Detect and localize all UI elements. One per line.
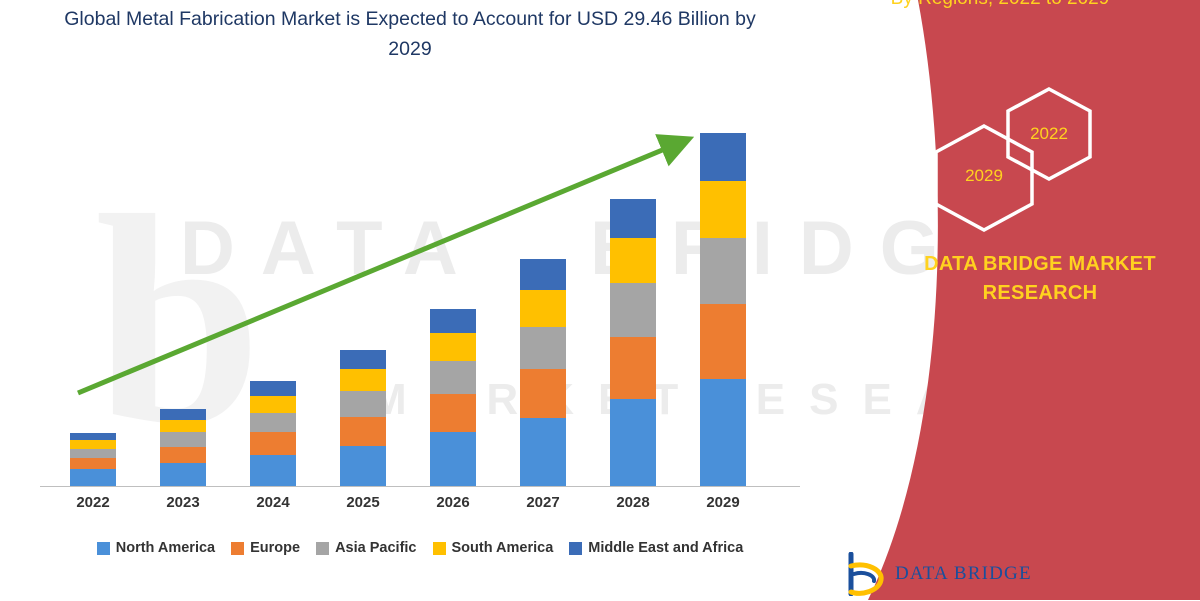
legend-swatch-icon — [231, 542, 244, 555]
x-axis-label: 2029 — [678, 494, 768, 511]
bar-segment — [340, 417, 386, 446]
chart-area: Global Metal Fabrication Market is Expec… — [0, 0, 830, 600]
bar-segment — [430, 361, 476, 394]
company-logo: DATA BRIDGE — [845, 552, 1032, 596]
bar-segment — [700, 379, 746, 486]
bar-segment — [340, 446, 386, 486]
chart-title: Global Metal Fabrication Market is Expec… — [60, 4, 760, 64]
x-axis-line — [40, 486, 800, 487]
bar-group — [250, 381, 296, 486]
bar-group — [430, 309, 476, 486]
bar-segment — [160, 432, 206, 446]
bar-segment — [520, 259, 566, 290]
x-axis-label: 2026 — [408, 494, 498, 511]
bar-segment — [520, 418, 566, 486]
bar-segment — [70, 433, 116, 440]
bar-segment — [160, 409, 206, 419]
bar-segment — [340, 350, 386, 369]
legend-swatch-icon — [433, 542, 446, 555]
bar-segment — [160, 447, 206, 464]
x-axis-label: 2027 — [498, 494, 588, 511]
bar-segment — [250, 396, 296, 413]
bar-segment — [700, 133, 746, 181]
bar-group — [610, 199, 656, 486]
bar-segment — [430, 432, 476, 486]
bar-segment — [520, 369, 566, 418]
bar-segment — [70, 469, 116, 486]
logo-b-icon — [845, 552, 887, 596]
brand-line-1: DATA BRIDGE MARKET — [880, 250, 1200, 279]
legend-item[interactable]: North America — [97, 540, 215, 556]
x-axis-label: 2025 — [318, 494, 408, 511]
x-axis-label: 2028 — [588, 494, 678, 511]
bar-segment — [430, 394, 476, 432]
bar-segment — [610, 337, 656, 399]
x-axis-label: 2022 — [48, 494, 138, 511]
bar-segment — [700, 304, 746, 380]
hexagon-2022-label: 2022 — [1003, 124, 1095, 144]
bar-segment — [160, 420, 206, 432]
bar-segment — [70, 449, 116, 458]
hexagon-2022: 2022 — [1003, 86, 1095, 187]
logo-mark-svg — [845, 552, 887, 596]
bar-segment — [700, 238, 746, 304]
chart-legend: North AmericaEuropeAsia PacificSouth Ame… — [40, 540, 800, 556]
bar-segment — [430, 309, 476, 333]
bar-segment — [610, 238, 656, 284]
bar-segment — [250, 381, 296, 395]
brand-name: DATA BRIDGE MARKET RESEARCH — [880, 250, 1200, 308]
bar-segment — [700, 181, 746, 238]
bar-segment — [250, 455, 296, 486]
panel-title-line: By Regions, 2022 to 2029 — [800, 0, 1200, 12]
bar-group — [700, 133, 746, 486]
legend-label: South America — [452, 540, 554, 556]
x-axis-label: 2024 — [228, 494, 318, 511]
bar-segment — [430, 333, 476, 361]
panel-title: By Regions, 2022 to 2029 — [800, 0, 1200, 12]
legend-label: Asia Pacific — [335, 540, 416, 556]
legend-item[interactable]: South America — [433, 540, 554, 556]
bar-segment — [340, 391, 386, 417]
bar-group — [520, 259, 566, 486]
bar-segment — [250, 413, 296, 433]
legend-label: North America — [116, 540, 215, 556]
legend-swatch-icon — [316, 542, 329, 555]
bar-segment — [70, 440, 116, 448]
legend-item[interactable]: Europe — [231, 540, 300, 556]
bar-group — [70, 433, 116, 486]
legend-swatch-icon — [97, 542, 110, 555]
legend-swatch-icon — [569, 542, 582, 555]
bar-segment — [610, 199, 656, 237]
legend-item[interactable]: Asia Pacific — [316, 540, 416, 556]
legend-item[interactable]: Middle East and Africa — [569, 540, 743, 556]
bar-segment — [250, 432, 296, 455]
legend-label: Europe — [250, 540, 300, 556]
bar-segment — [610, 399, 656, 486]
legend-label: Middle East and Africa — [588, 540, 743, 556]
bar-segment — [520, 290, 566, 326]
bar-segment — [610, 283, 656, 337]
brand-line-2: RESEARCH — [880, 279, 1200, 308]
x-axis-label: 2023 — [138, 494, 228, 511]
bar-segment — [160, 463, 206, 486]
bar-segment — [70, 458, 116, 469]
bar-group — [160, 409, 206, 486]
bar-segment — [340, 369, 386, 391]
logo-text: DATA BRIDGE — [895, 563, 1032, 585]
bar-group — [340, 350, 386, 486]
bar-segment — [520, 327, 566, 369]
